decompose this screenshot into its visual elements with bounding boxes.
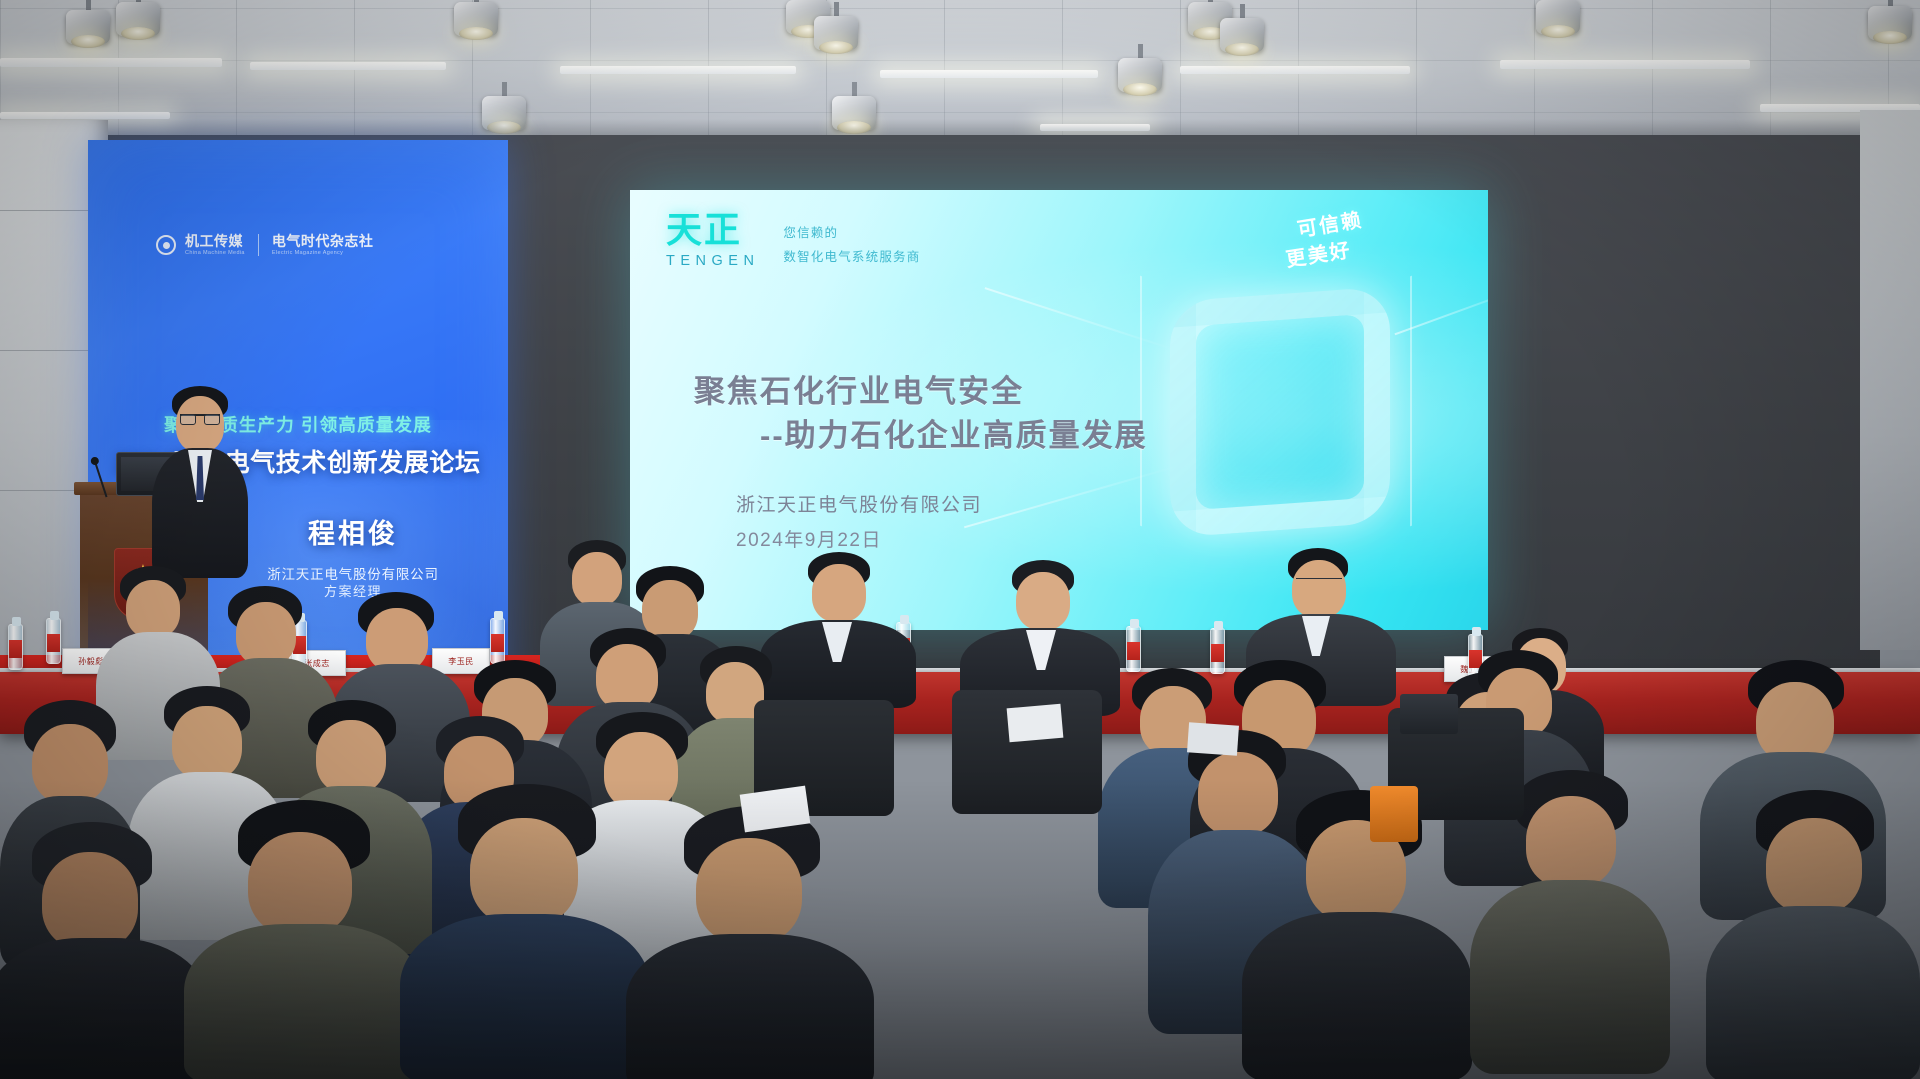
conference-room-photo: 机工传媒 China Machine Media 电气时代杂志社 Electri… (0, 0, 1920, 1079)
stage-spotlight (1212, 18, 1274, 70)
organizer-unit-en: Electric Magazine Agency (272, 251, 374, 257)
ceiling-light-trough (250, 62, 446, 70)
organizer-brand-cn: 机工传媒 (185, 234, 245, 248)
stage-spotlight (58, 10, 120, 62)
stage-spotlight (446, 2, 508, 54)
water-bottle (1126, 626, 1141, 672)
abstract-cube-graphic (1140, 266, 1440, 566)
presentation-organization: 浙江天正电气股份有限公司 (736, 490, 982, 517)
stage-spotlight (806, 16, 868, 68)
audience-desk-paper (1007, 704, 1064, 743)
audience-person (1706, 790, 1920, 1079)
ceiling-light-trough (880, 70, 1098, 78)
audience-person (626, 806, 874, 1079)
tengen-logo: 天正 TENGEN 您信赖的 数智化电气系统服务商 (666, 212, 920, 269)
audience-laptop (1400, 694, 1458, 734)
logo-divider (258, 234, 259, 256)
organizer-unit-cn: 电气时代杂志社 (272, 234, 374, 248)
tagline-line-1: 您信赖的 (783, 222, 920, 241)
water-bottle (490, 618, 505, 664)
panelist-person (960, 560, 1120, 710)
tagline-line-2: 数智化电气系统服务商 (783, 246, 920, 265)
presentation-title-line-1: 聚焦石化行业电气安全 (694, 366, 1024, 411)
ceiling-light-trough (0, 112, 170, 119)
stage-spotlight (1860, 6, 1920, 58)
orange-bag (1370, 786, 1418, 842)
organizer-logo: 机工传媒 China Machine Media 电气时代杂志社 Electri… (156, 234, 373, 256)
audience-person (400, 784, 650, 1079)
tengen-brand-cn: 天正 (666, 212, 759, 248)
water-bottle (46, 618, 61, 664)
organizer-brand-en: China Machine Media (185, 251, 245, 257)
circle-dot-logo-icon (156, 235, 176, 255)
ceiling-light-trough (560, 66, 796, 74)
audience-person (184, 800, 424, 1079)
tengen-brand-en: TENGEN (666, 253, 759, 269)
tengen-tagline: 您信赖的 数智化电气系统服务商 (783, 222, 920, 269)
right-wall (1860, 110, 1920, 650)
stage-spotlight (1110, 58, 1172, 110)
ceiling-light-trough (1500, 60, 1750, 69)
presentation-date: 2024年9月22日 (736, 525, 882, 552)
slogan-line-2: 更美好 (1284, 234, 1354, 273)
stage-spotlight (1528, 0, 1590, 52)
audience-desk-paper (1187, 722, 1239, 755)
presentation-title-line-2: --助力石化企业高质量发展 (760, 410, 1148, 455)
audience-person (0, 822, 208, 1079)
water-bottle (8, 624, 23, 670)
audience-person (1242, 790, 1472, 1079)
